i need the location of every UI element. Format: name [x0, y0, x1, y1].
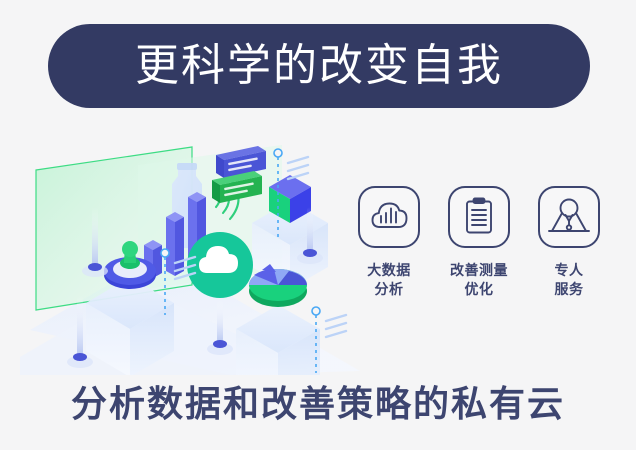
- feature-label-line2: 分析: [367, 280, 411, 299]
- banner-title: 更科学的改变自我: [135, 44, 503, 88]
- cloud-bar-chart-icon-frame: [358, 186, 420, 248]
- feature-item-measurement[interactable]: 改善测量 优化: [440, 186, 518, 299]
- feature-item-support[interactable]: 专人 服务: [530, 186, 608, 299]
- header-banner: 更科学的改变自我: [48, 24, 590, 108]
- feature-label-line1: 改善测量: [450, 261, 508, 280]
- cloud-bar-chart-icon: [373, 204, 407, 228]
- tagline: 分析数据和改善策略的私有云: [0, 382, 636, 425]
- cloud-badge: [187, 232, 253, 298]
- feature-label-big-data: 大数据 分析: [367, 261, 411, 299]
- feature-list: 大数据 分析 改善测量 优化: [350, 186, 608, 332]
- support-agent-icon-frame: [538, 186, 600, 248]
- feature-label-measurement: 改善测量 优化: [450, 261, 508, 299]
- bar-2: [166, 212, 184, 276]
- speed-lines-3: [326, 315, 346, 337]
- feature-label-line2: 优化: [450, 280, 508, 299]
- clipboard-icon: [467, 199, 491, 233]
- support-agent-icon: [549, 200, 589, 232]
- feature-label-support: 专人 服务: [555, 261, 584, 299]
- hero-illustration: [20, 125, 360, 375]
- poster-canvas: 更科学的改变自我: [0, 0, 636, 450]
- feature-label-line2: 服务: [555, 280, 584, 299]
- feature-label-line1: 专人: [555, 261, 584, 280]
- feature-item-big-data[interactable]: 大数据 分析: [350, 186, 428, 299]
- clipboard-icon-frame: [448, 186, 510, 248]
- feature-label-line1: 大数据: [367, 261, 411, 280]
